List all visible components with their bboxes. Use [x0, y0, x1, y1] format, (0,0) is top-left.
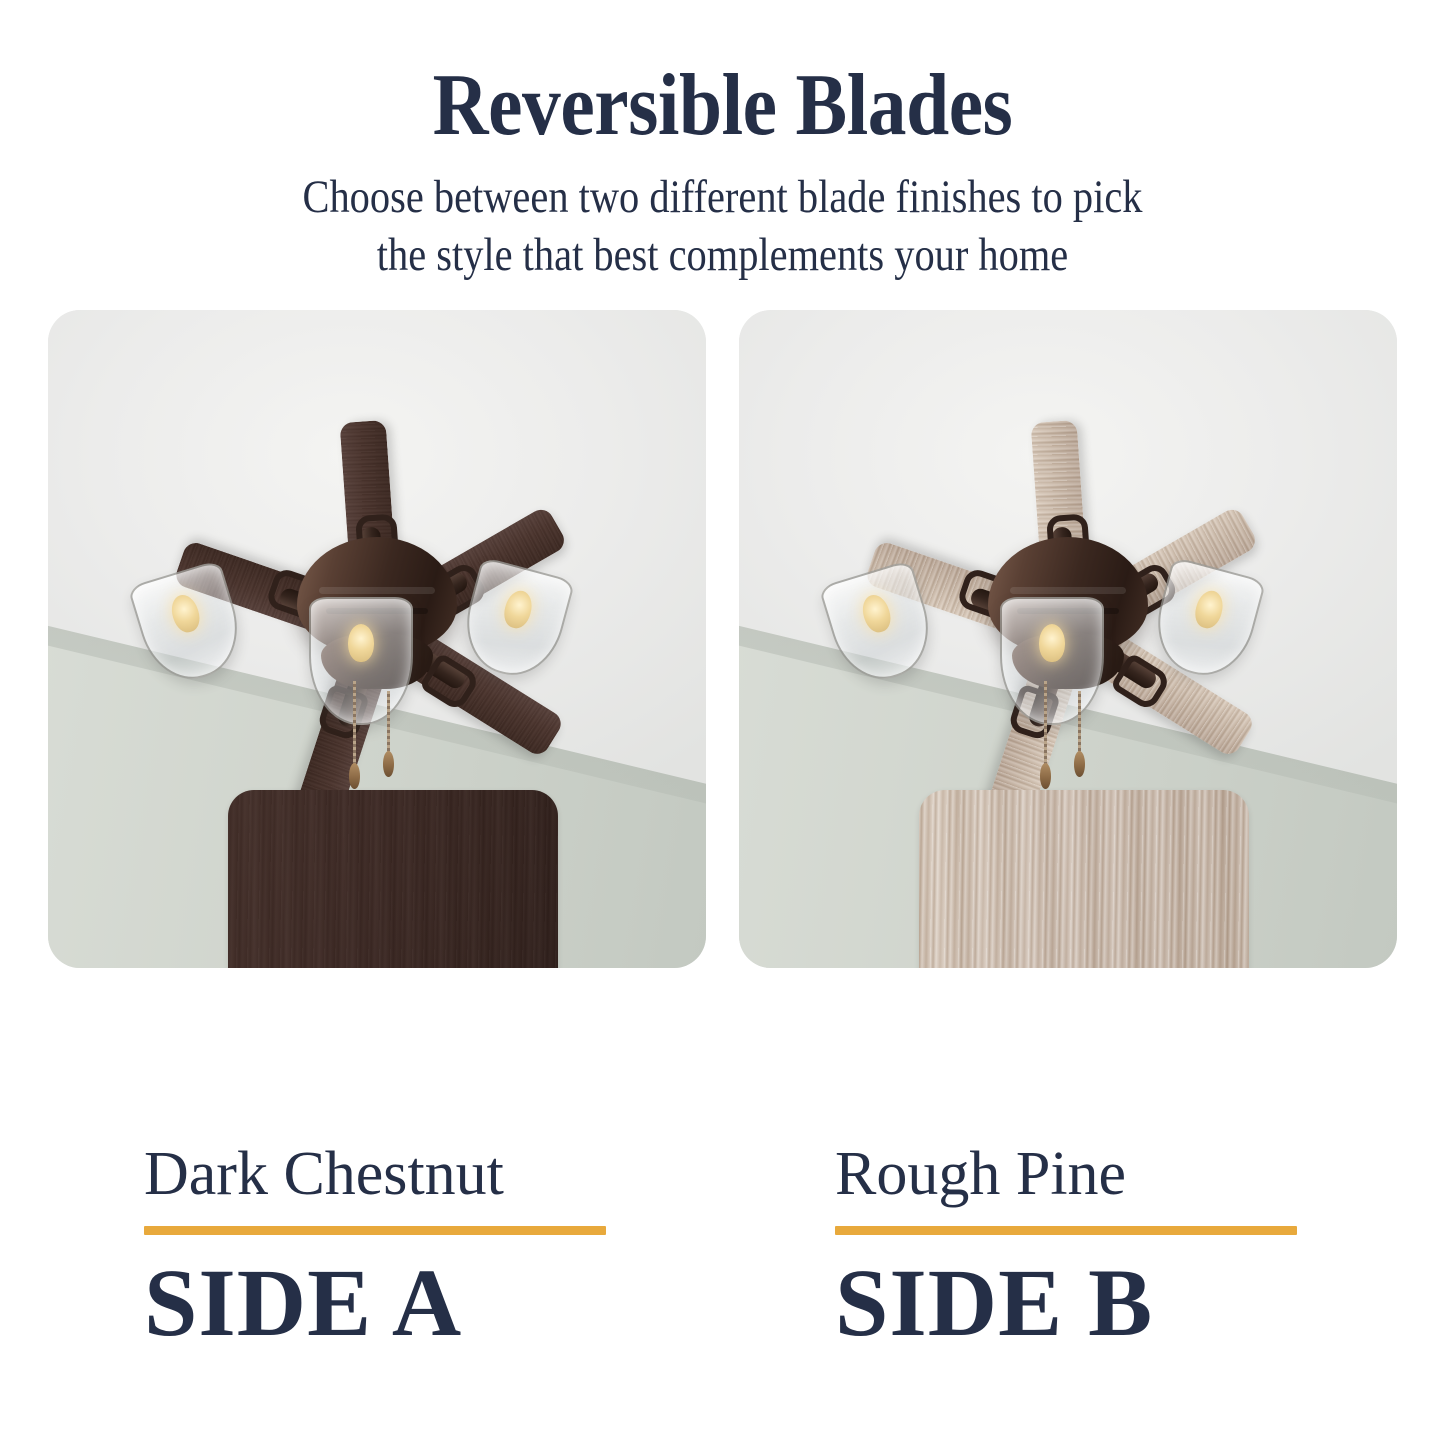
product-photo-side-a [48, 310, 706, 968]
finish-swatch-dark-chestnut [228, 790, 558, 968]
light-shade [309, 597, 413, 725]
gold-divider-rule [144, 1226, 606, 1235]
subtitle-line-1: Choose between two different blade finis… [101, 168, 1344, 226]
light-bulb [1192, 587, 1227, 630]
light-bulb [501, 587, 536, 630]
pull-chain [1078, 691, 1081, 757]
side-label: SIDE A [48, 1251, 706, 1355]
option-card-side-a: Dark Chestnut SIDE A [48, 310, 706, 968]
finish-name-label: Dark Chestnut [48, 1138, 706, 1210]
pull-chain [387, 691, 390, 757]
gold-divider-rule [835, 1226, 1297, 1235]
side-label: SIDE B [739, 1251, 1397, 1355]
finish-swatch-rough-pine [919, 790, 1249, 968]
pull-chain [1044, 681, 1047, 769]
pull-chain [353, 681, 356, 769]
caption-side-a: Dark Chestnut SIDE A [48, 1138, 706, 1355]
infographic-page: Reversible Blades Choose between two dif… [0, 0, 1445, 1445]
finish-name-label: Rough Pine [739, 1138, 1397, 1210]
light-bulb [348, 624, 374, 662]
page-subtitle: Choose between two different blade finis… [101, 168, 1344, 284]
light-bulb [858, 591, 894, 635]
light-bulb [1039, 624, 1065, 662]
light-bulb [167, 591, 203, 635]
product-photo-side-b [739, 310, 1397, 968]
light-shade [1000, 597, 1104, 725]
page-title: Reversible Blades [87, 58, 1359, 154]
option-card-side-b: Rough Pine SIDE B [739, 310, 1397, 968]
header: Reversible Blades Choose between two dif… [0, 58, 1445, 284]
subtitle-line-2: the style that best complements your hom… [101, 226, 1344, 284]
caption-side-b: Rough Pine SIDE B [739, 1138, 1397, 1355]
